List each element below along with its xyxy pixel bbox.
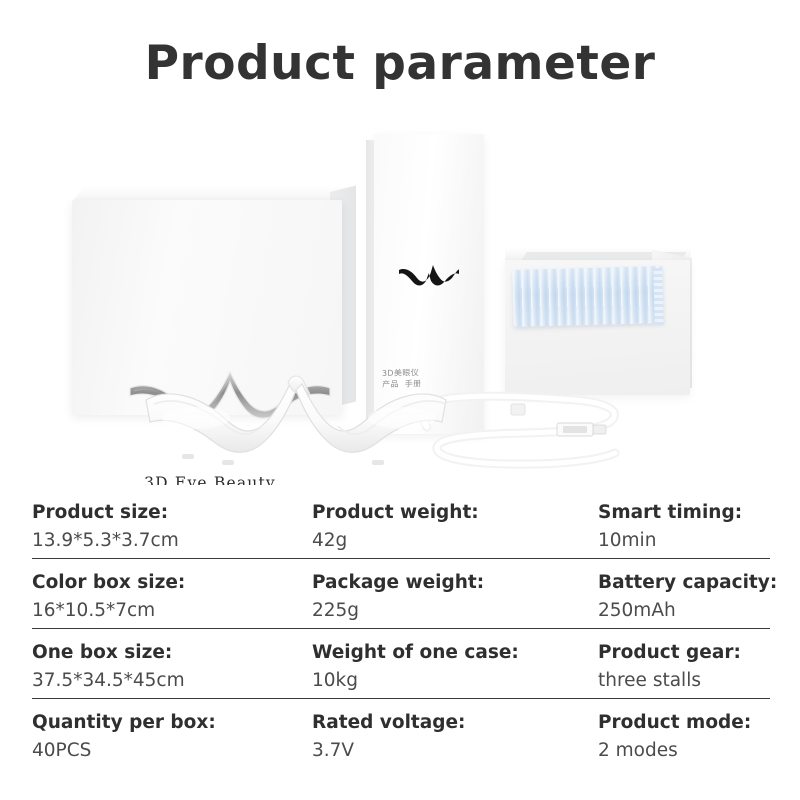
spec-cell-product-weight: Product weight: 42g — [312, 488, 598, 558]
table-row: Product size: 13.9*5.3*3.7cm Product wei… — [0, 488, 800, 558]
spec-cell-color-box-size: Color box size: 16*10.5*7cm — [32, 558, 312, 628]
spec-cell-battery-capacity: Battery capacity: 250mAh — [598, 558, 798, 628]
page-title: Product parameter — [0, 38, 800, 90]
spec-cell-one-box-size: One box size: 37.5*34.5*45cm — [32, 628, 312, 698]
spec-label: Battery capacity: — [598, 571, 798, 595]
spec-cell-product-mode: Product mode: 2 modes — [598, 698, 798, 768]
spec-cell-rated-voltage: Rated voltage: 3.7V — [312, 698, 598, 768]
spec-cell-quantity-per-box: Quantity per box: 40PCS — [32, 698, 312, 768]
eye-mask-black-icon — [398, 262, 460, 288]
spec-value: 10min — [598, 529, 798, 553]
spec-label: Smart timing: — [598, 501, 798, 525]
spec-label: Product gear: — [598, 641, 798, 665]
product-photo: 3D Eye Beauty 3D美眼仪产品 手册 — [0, 110, 800, 485]
table-row: Quantity per box: 40PCS Rated voltage: 3… — [0, 698, 800, 768]
spec-label: Color box size: — [32, 571, 312, 595]
product-parameter-page: Product parameter 3D — [0, 0, 800, 800]
spec-cell-smart-timing: Smart timing: 10min — [598, 488, 798, 558]
spec-label: Product mode: — [598, 711, 798, 735]
spec-cell-weight-of-one-case: Weight of one case: 10kg — [312, 628, 598, 698]
table-row: Color box size: 16*10.5*7cm Package weig… — [0, 558, 800, 628]
spec-cell-package-weight: Package weight: 225g — [312, 558, 598, 628]
microfiber-cloth — [512, 266, 663, 327]
spec-value: 37.5*34.5*45cm — [32, 669, 312, 693]
spec-value: three stalls — [598, 669, 798, 693]
spec-cell-product-size: Product size: 13.9*5.3*3.7cm — [32, 488, 312, 558]
spec-value: 16*10.5*7cm — [32, 599, 312, 623]
spec-value: 40PCS — [32, 739, 312, 763]
spec-value: 42g — [312, 529, 598, 553]
spec-cell-product-gear: Product gear: three stalls — [598, 628, 798, 698]
spec-table: Product size: 13.9*5.3*3.7cm Product wei… — [0, 488, 800, 768]
spec-value: 10kg — [312, 669, 598, 693]
spec-label: Product size: — [32, 501, 312, 525]
spec-value: 3.7V — [312, 739, 598, 763]
spec-value: 13.9*5.3*3.7cm — [32, 529, 312, 553]
spec-value: 225g — [312, 599, 598, 623]
table-row: One box size: 37.5*34.5*45cm Weight of o… — [0, 628, 800, 698]
spec-label: One box size: — [32, 641, 312, 665]
spec-value: 250mAh — [598, 599, 798, 623]
eye-massager-device — [140, 360, 460, 485]
spec-label: Package weight: — [312, 571, 598, 595]
microfiber-cloth-edge — [653, 268, 663, 325]
spec-label: Rated voltage: — [312, 711, 598, 735]
spec-label: Weight of one case: — [312, 641, 598, 665]
spec-label: Quantity per box: — [32, 711, 312, 735]
spec-label: Product weight: — [312, 501, 598, 525]
spec-value: 2 modes — [598, 739, 798, 763]
